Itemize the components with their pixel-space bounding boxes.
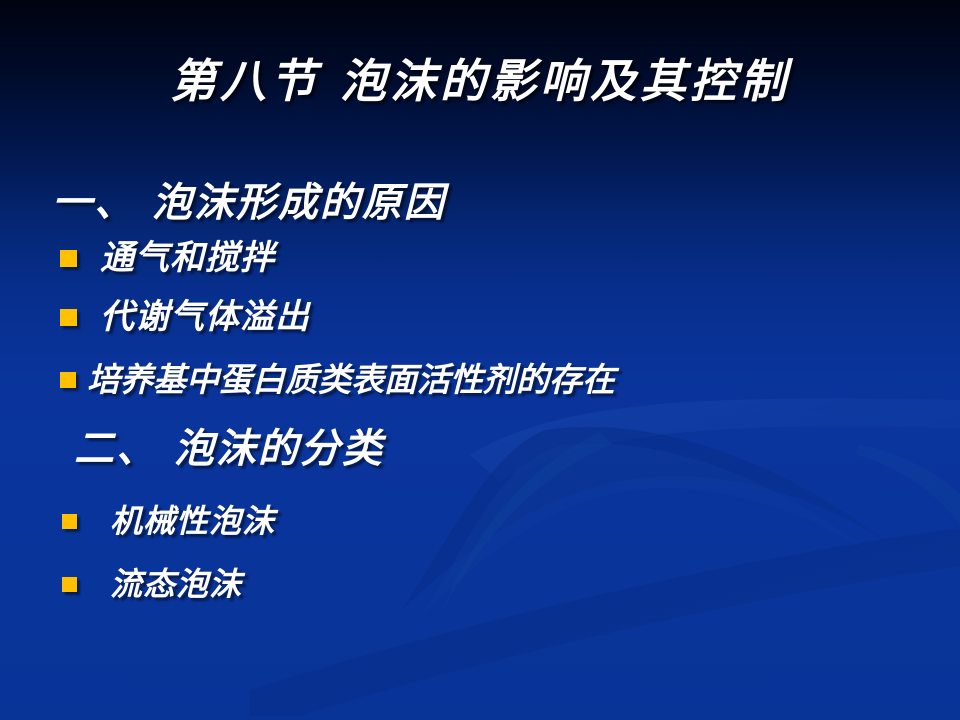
bullet-item-2: 代谢气体溢出 xyxy=(60,300,310,336)
section-heading-1: 一、 泡沫形成的原因 xyxy=(52,182,446,224)
bullet-item-1-label: 通气和搅拌 xyxy=(100,241,275,277)
bullet-item-3: 培养基中蛋白质类表面活性剂的存在 xyxy=(60,363,615,398)
square-bullet-icon xyxy=(60,309,77,326)
bullet-item-4: 机械性泡沫 xyxy=(62,505,275,539)
presentation-slide: 第八节 泡沫的影响及其控制 一、 泡沫形成的原因 通气和搅拌 代谢气体溢出 培养… xyxy=(0,0,960,720)
bullet-item-5-label: 流态泡沫 xyxy=(110,568,242,602)
bullet-item-2-label: 代谢气体溢出 xyxy=(100,300,310,336)
slide-content: 第八节 泡沫的影响及其控制 一、 泡沫形成的原因 通气和搅拌 代谢气体溢出 培养… xyxy=(0,0,960,720)
square-bullet-icon xyxy=(60,372,76,388)
square-bullet-icon xyxy=(62,514,77,529)
slide-title: 第八节 泡沫的影响及其控制 xyxy=(0,56,960,107)
bullet-item-5: 流态泡沫 xyxy=(62,568,242,602)
square-bullet-icon xyxy=(62,577,77,592)
bullet-item-1: 通气和搅拌 xyxy=(60,241,275,277)
square-bullet-icon xyxy=(60,250,77,267)
bullet-item-3-label: 培养基中蛋白质类表面活性剂的存在 xyxy=(87,363,615,398)
section-heading-2: 二、 泡沫的分类 xyxy=(74,428,384,470)
bullet-item-4-label: 机械性泡沫 xyxy=(110,505,275,539)
